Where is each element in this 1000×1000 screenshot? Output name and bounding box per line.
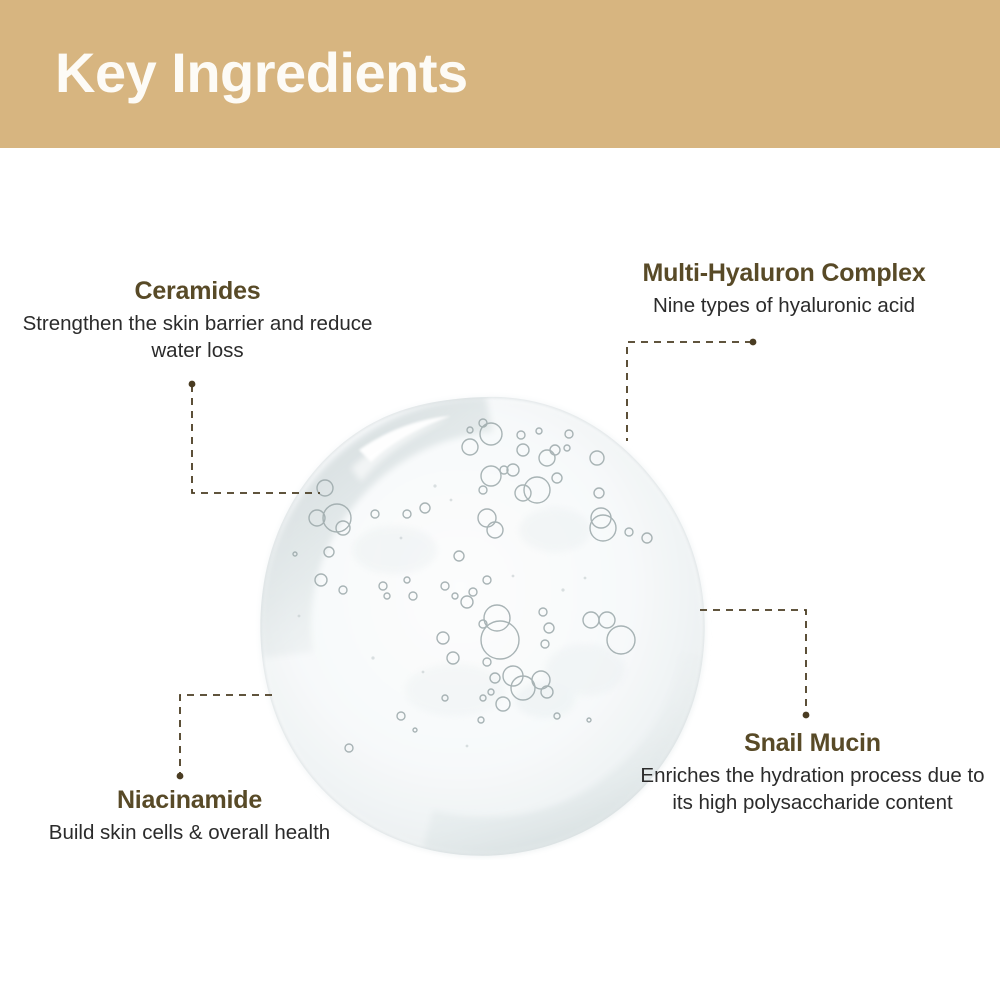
connector-dot-snail-mucin	[803, 712, 810, 719]
key-ingredients-infographic: Key Ingredients	[0, 0, 1000, 1000]
callout-title-snail-mucin: Snail Mucin	[630, 728, 995, 758]
callout-title-niacinamide: Niacinamide	[22, 785, 357, 815]
connector-dot-niacinamide	[177, 773, 184, 780]
callout-description-multi-hyaluron-complex: Nine types of hyaluronic acid	[578, 292, 990, 319]
callout-description-snail-mucin: Enriches the hydration process due to it…	[630, 762, 995, 817]
callout-description-ceramides: Strengthen the skin barrier and reduce w…	[10, 310, 385, 365]
connector-snail-mucin	[700, 610, 806, 714]
callout-ceramides: Ceramides Strengthen the skin barrier an…	[10, 276, 385, 365]
callout-snail-mucin: Snail Mucin Enriches the hydration proce…	[630, 728, 995, 817]
callout-title-ceramides: Ceramides	[10, 276, 385, 306]
page-title: Key Ingredients	[55, 41, 468, 105]
callout-title-multi-hyaluron-complex: Multi-Hyaluron Complex	[578, 258, 990, 288]
header-banner: Key Ingredients	[0, 0, 1000, 148]
callout-multi-hyaluron-complex: Multi-Hyaluron Complex Nine types of hya…	[578, 258, 990, 319]
callout-description-niacinamide: Build skin cells & overall health	[22, 819, 357, 846]
connector-dot-multi-hyaluron-complex	[750, 339, 757, 346]
callout-niacinamide: Niacinamide Build skin cells & overall h…	[22, 785, 357, 846]
connector-dot-ceramides	[189, 381, 196, 388]
